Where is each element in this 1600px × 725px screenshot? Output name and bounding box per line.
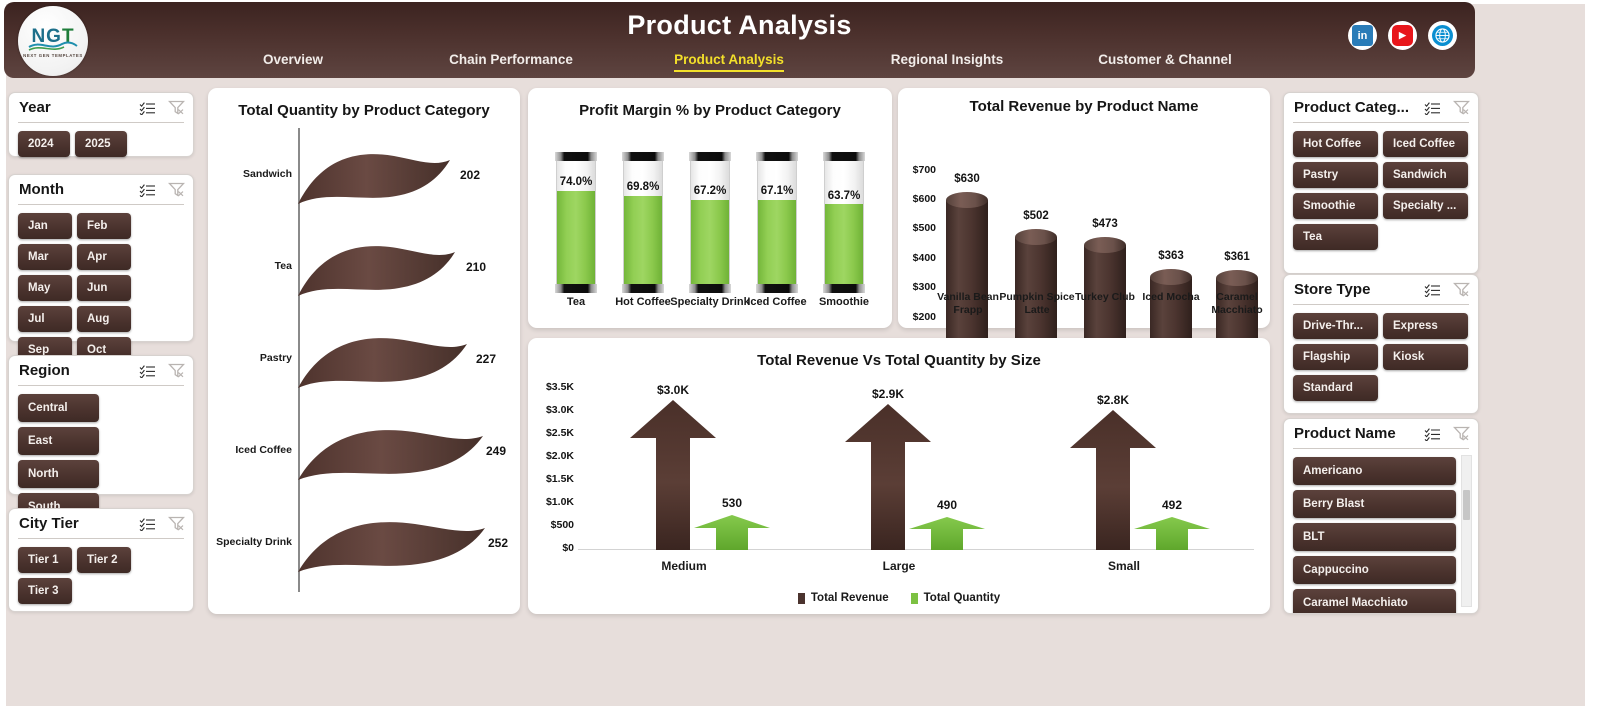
chip-tier-1[interactable]: Tier 1 [18,547,72,573]
chip-month-mar[interactable]: Mar [18,244,72,270]
chip-pcat-pastry[interactable]: Pastry [1293,162,1378,188]
arrow-quantity-small[interactable] [1132,517,1212,550]
slicer-city-tier-header: City Tier [9,509,193,539]
chip-pcat-specialty[interactable]: Specialty ... [1383,193,1468,219]
slicer-store-type[interactable]: Store Type [1283,274,1479,414]
clear-filter-icon[interactable] [168,516,185,536]
chip-region-north[interactable]: North [18,460,99,488]
flag-value-specialty-drink: 252 [488,536,508,550]
clear-filter-icon[interactable] [1453,426,1470,446]
chip-store-express[interactable]: Express [1383,313,1468,339]
select-all-icon[interactable] [1424,101,1441,120]
chip-region-east[interactable]: East [18,427,99,455]
youtube-icon[interactable]: ▶ [1388,21,1417,50]
gauge-value-iced-coffee: 67.1% [761,185,794,197]
social-links: in ▶ [1348,21,1457,50]
clear-filter-icon[interactable] [1453,282,1470,302]
gauge-label-specialty-drink: Specialty Drink [670,296,749,308]
cylinder-label-caramel-macchiato: Caramel Macchiato [1199,291,1275,317]
gauge-cap-bottom [555,284,597,293]
slicer-year[interactable]: Year [8,92,194,157]
chart-title-profit-margin: Profit Margin % by Product Category [528,102,892,119]
arrow-value-quantity-small: 492 [1132,498,1212,512]
select-all-icon[interactable] [1424,427,1441,446]
dashboard-header: NGT NEXT GEN TEMPLATES Product Analysis … [4,2,1475,78]
cylinder-value-vanilla-bean-frapp: $630 [954,173,980,185]
gauge-tea[interactable]: 74.0% Tea [556,155,596,290]
chip-pname-caramel-macchiato[interactable]: Caramel Macchiato [1293,589,1456,614]
legend-item-total-quantity[interactable]: Total Quantity [911,592,1000,604]
flag-value-pastry: 227 [476,352,496,366]
cylinder-label-iced-mocha: Iced Mocha [1133,291,1209,304]
logo-tagline: NEXT GEN TEMPLATES [18,53,88,58]
slicer-year-chips: 2024 2025 [9,123,193,166]
gauge-hot-coffee[interactable]: 69.8% Hot Coffee [623,155,663,290]
arrow-ytick-0: $0 [534,542,574,554]
select-all-icon[interactable] [139,364,156,383]
cylinder-value-turkey-club: $473 [1092,218,1118,230]
arrow-value-revenue-large: $2.9K [848,387,928,401]
chip-month-apr[interactable]: Apr [77,244,131,270]
chip-pcat-smoothie[interactable]: Smoothie [1293,193,1378,219]
cylinder-label-turkey-club: Turkey Club [1067,291,1143,304]
clear-filter-icon[interactable] [168,100,185,120]
chip-store-standard[interactable]: Standard [1293,375,1378,401]
select-all-icon[interactable] [1424,283,1441,302]
nav-tab-overview[interactable]: Overview [184,52,402,78]
chip-year-2025[interactable]: 2025 [75,131,127,157]
arrow-xlabel-large: Large [851,559,947,573]
legend-label-total-revenue: Total Revenue [811,592,889,604]
chip-pname-blt[interactable]: BLT [1293,523,1456,551]
flag-label-specialty-drink: Specialty Drink [216,536,292,548]
flag-value-sandwich: 202 [460,168,480,182]
chip-year-2024[interactable]: 2024 [18,131,70,157]
gauge-value-tea: 74.0% [560,176,593,188]
slicer-product-category[interactable]: Product Categ... [1283,92,1479,274]
arrow-value-quantity-large: 490 [907,498,987,512]
flag-label-iced-coffee: Iced Coffee [235,444,292,456]
slicer-city-tier[interactable]: City Tier [8,508,194,612]
ytick-500: $500 [900,222,936,234]
chart-title-revenue-product: Total Revenue by Product Name [898,98,1270,115]
flag-value-iced-coffee: 249 [486,444,506,458]
chart-title-quantity: Total Quantity by Product Category [208,102,520,119]
chip-month-jan[interactable]: Jan [18,213,72,239]
slicer-city-tier-title: City Tier [19,515,79,532]
slicer-region[interactable]: Region [8,355,194,495]
chip-store-drive-thru[interactable]: Drive-Thr... [1293,313,1378,339]
slicer-region-header: Region [9,356,193,386]
slicer-store-type-title: Store Type [1294,281,1370,298]
slicer-store-type-header: Store Type [1284,275,1478,305]
gauge-cap-top [689,152,731,161]
gauge-label-hot-coffee: Hot Coffee [615,296,671,308]
slicer-year-title: Year [19,99,51,116]
nav-tab-customer-channel[interactable]: Customer & Channel [1056,52,1274,78]
ytick-400: $400 [900,252,936,264]
arrow-ytick-2000: $2.0K [534,450,574,462]
gauge-cap-top [555,152,597,161]
chip-store-flagship[interactable]: Flagship [1293,344,1378,370]
legend-label-total-quantity: Total Quantity [924,592,1000,604]
cylinder-value-iced-mocha: $363 [1158,250,1184,262]
arrow-ytick-2500: $2.5K [534,427,574,439]
chart-card-total-quantity-by-product-category: Total Quantity by Product Category Sandw… [208,88,520,614]
slicer-month-header: Month [9,175,193,205]
nav-tab-chain-performance[interactable]: Chain Performance [402,52,620,78]
gauge-label-iced-coffee: Iced Coffee [747,296,806,308]
clear-filter-icon[interactable] [168,182,185,202]
gauge-label-tea: Tea [567,296,585,308]
chart-legend: Total Revenue Total Quantity [528,592,1270,604]
ytick-700: $700 [900,164,936,176]
chip-month-jun[interactable]: Jun [77,275,131,301]
flag-label-tea: Tea [275,260,292,272]
flag-bar-sandwich[interactable]: Sandwich 202 [208,138,520,214]
chip-month-feb[interactable]: Feb [77,213,131,239]
gauge-cap-top [622,152,664,161]
chip-pname-cappuccino[interactable]: Cappuccino [1293,556,1456,584]
chip-tier-3[interactable]: Tier 3 [18,578,72,604]
clear-filter-icon[interactable] [1453,100,1470,120]
cylinder-label-vanilla-bean-frapp: Vanilla Bean Frapp [930,291,1006,317]
chart-card-total-revenue-vs-total-quantity-by-size: Total Revenue Vs Total Quantity by Size … [528,338,1270,614]
slicer-product-category-title: Product Categ... [1294,99,1409,116]
slicer-month-title: Month [19,181,64,198]
select-all-icon[interactable] [139,183,156,202]
arrow-quantity-large[interactable] [907,517,987,550]
chip-pcat-sandwich[interactable]: Sandwich [1383,162,1468,188]
slicer-city-tier-chips: Tier 1 Tier 2 Tier 3 [9,539,193,613]
nav-tab-regional-insights[interactable]: Regional Insights [838,52,1056,78]
cylinder-value-caramel-macchiato: $361 [1224,251,1250,263]
legend-swatch-total-revenue [798,593,805,604]
slicer-store-type-chips: Drive-Thr... Express Flagship Kiosk Stan… [1284,305,1478,410]
arrow-xlabel-small: Small [1076,559,1172,573]
slicer-product-name-chips: Americano Berry Blast BLT Cappuccino Car… [1284,449,1478,614]
gauge-cap-bottom [823,284,865,293]
chip-store-kiosk[interactable]: Kiosk [1383,344,1468,370]
gauge-value-hot-coffee: 69.8% [627,181,660,193]
arrow-value-revenue-medium: $3.0K [633,383,713,397]
flag-bar-specialty-drink[interactable]: Specialty Drink 252 [208,506,520,582]
logo-swoosh-icon [28,40,78,52]
flag-value-tea: 210 [466,260,486,274]
gauge-cap-bottom [756,284,798,293]
nav-tab-product-analysis[interactable]: Product Analysis [620,52,838,78]
flag-shape [298,326,470,396]
arrow-ytick-1500: $1.5K [534,473,574,485]
website-icon[interactable] [1428,21,1457,50]
select-all-icon[interactable] [139,101,156,120]
chart-card-total-revenue-by-product-name: Total Revenue by Product Name $0 $100 $2… [898,88,1270,328]
slicer-scrollbar-track[interactable] [1461,455,1472,607]
arrow-value-revenue-small: $2.8K [1073,393,1153,407]
arrow-xlabel-medium: Medium [636,559,732,573]
gauge-value-smoothie: 63.7% [828,190,861,202]
slicer-year-icons [139,100,185,120]
chip-tier-2[interactable]: Tier 2 [77,547,131,573]
flag-bar-tea[interactable]: Tea 210 [208,230,520,306]
gauge-cap-top [823,152,865,161]
slicer-year-header: Year [9,93,193,123]
slicer-product-category-header: Product Categ... [1284,93,1478,123]
chip-pname-americano[interactable]: Americano [1293,457,1456,485]
chip-pcat-iced-coffee[interactable]: Iced Coffee [1383,131,1468,157]
flag-shape [298,510,488,580]
chip-month-aug[interactable]: Aug [77,306,131,332]
arrow-ytick-3500: $3.5K [534,381,574,393]
slicer-month[interactable]: Month [8,174,194,342]
legend-item-total-revenue[interactable]: Total Revenue [798,592,889,604]
flag-bar-iced-coffee[interactable]: Iced Coffee 249 [208,414,520,490]
slicer-region-title: Region [19,362,70,379]
arrow-quantity-medium[interactable] [692,515,772,550]
flag-shape [298,418,486,488]
arrow-value-quantity-medium: 530 [692,496,772,510]
globe-icon [1435,28,1450,43]
cylinder-label-pumpkin-spice-latte: Pumpkin Spice Latte [999,291,1075,317]
chip-pcat-tea[interactable]: Tea [1293,224,1378,250]
flag-label-sandwich: Sandwich [243,168,292,180]
flag-shape [298,234,458,304]
legend-swatch-total-quantity [911,593,918,604]
cylinder-value-pumpkin-spice-latte: $502 [1023,210,1049,222]
dashboard-canvas: NGT NEXT GEN TEMPLATES Product Analysis … [0,0,1600,725]
slicer-product-name[interactable]: Product Name [1283,418,1479,614]
chart-card-profit-margin-by-product-category: Profit Margin % by Product Category 74.0… [528,88,892,328]
chip-pname-berry-blast[interactable]: Berry Blast [1293,490,1456,518]
gauge-label-smoothie: Smoothie [819,296,869,308]
main-nav: Overview Chain Performance Product Analy… [184,52,1274,78]
linkedin-icon[interactable]: in [1348,21,1377,50]
gauge-cap-bottom [689,284,731,293]
gauge-cap-bottom [622,284,664,293]
select-all-icon[interactable] [139,517,156,536]
flag-bar-pastry[interactable]: Pastry 227 [208,322,520,398]
arrow-ytick-500: $500 [534,519,574,531]
chart-title-revenue-vs-quantity: Total Revenue Vs Total Quantity by Size [528,352,1270,369]
slicer-product-category-chips: Hot Coffee Iced Coffee Pastry Sandwich S… [1284,123,1478,259]
gauge-value-specialty-drink: 67.2% [694,185,727,197]
page-title: Product Analysis [4,10,1475,41]
chip-month-jul[interactable]: Jul [18,306,72,332]
chip-pcat-hot-coffee[interactable]: Hot Coffee [1293,131,1378,157]
slicer-product-name-title: Product Name [1294,425,1396,442]
gauge-iced-coffee[interactable]: 67.1% Iced Coffee [757,155,797,290]
flag-label-pastry: Pastry [260,352,292,364]
arrow-ytick-3000: $3.0K [534,404,574,416]
slicer-product-name-header: Product Name [1284,419,1478,449]
slicer-scrollbar-thumb[interactable] [1463,490,1470,520]
chip-month-may[interactable]: May [18,275,72,301]
gauge-smoothie[interactable]: 63.7% Smoothie [824,155,864,290]
chip-region-central[interactable]: Central [18,394,99,422]
clear-filter-icon[interactable] [168,363,185,383]
gauge-specialty-drink[interactable]: 67.2% Specialty Drink [690,155,730,290]
arrow-ytick-1000: $1.0K [534,496,574,508]
gauge-cap-top [756,152,798,161]
ytick-600: $600 [900,193,936,205]
flag-shape [298,142,453,212]
